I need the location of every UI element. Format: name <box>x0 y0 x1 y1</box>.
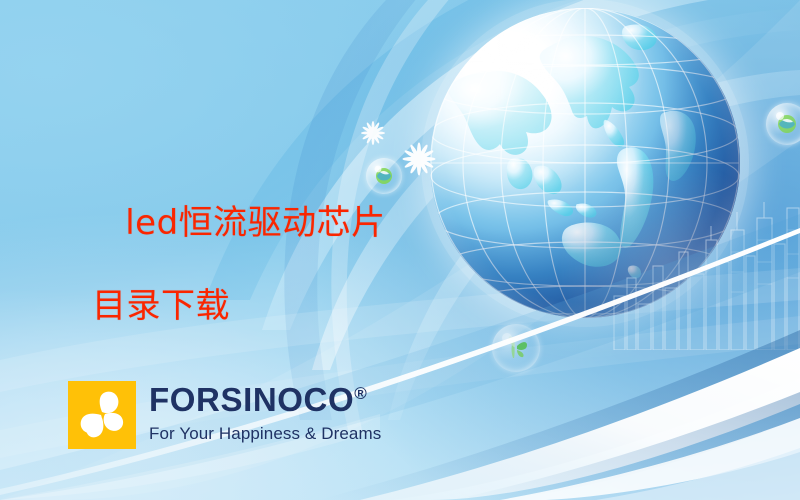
logo-wordmark: FORSINOCO® <box>149 383 381 416</box>
logo-text-block: FORSINOCO® For Your Happiness & Dreams <box>149 381 381 442</box>
registered-trademark-symbol: ® <box>354 384 367 403</box>
company-logo[interactable]: FORSINOCO® For Your Happiness & Dreams <box>68 381 381 449</box>
forsinoco-pinwheel-icon <box>68 381 136 449</box>
logo-wordmark-text: FORSINOCO <box>149 381 354 418</box>
logo-tagline: For Your Happiness & Dreams <box>149 425 381 442</box>
headline-text: led恒流驱动芯片 目录下载 <box>80 162 420 411</box>
headline-line-1: led恒流驱动芯片 <box>125 203 385 243</box>
headline-line-2: 目录下载 <box>92 286 420 327</box>
promo-banner: led恒流驱动芯片 目录下载 FORSINOCO® For Your Happi… <box>0 0 800 500</box>
